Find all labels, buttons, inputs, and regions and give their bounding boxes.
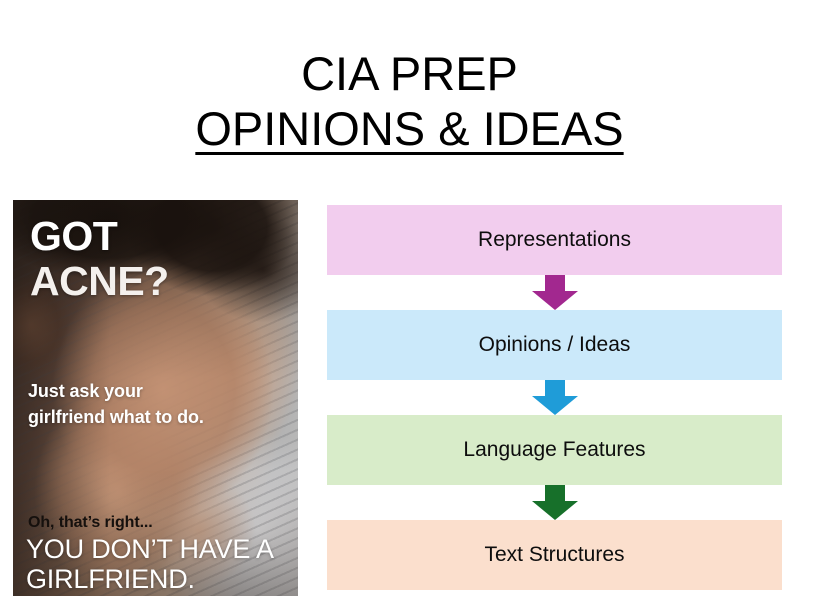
- poster-subline-line-1: Just ask your: [28, 378, 204, 404]
- flow-box-label: Representations: [478, 228, 631, 252]
- poster-subline-line-2: girlfriend what to do.: [28, 404, 204, 430]
- down-arrow-icon: [532, 275, 578, 310]
- poster-punchline-line-2: GIRLFRIEND.: [26, 564, 274, 594]
- title-line-2-container: OPINIONS & IDEAS: [0, 101, 819, 156]
- flow-box-representations[interactable]: Representations: [327, 205, 782, 275]
- acne-advertisement-image: GOT ACNE? Just ask your girlfriend what …: [13, 200, 298, 596]
- poster-subline: Just ask your girlfriend what to do.: [28, 378, 204, 430]
- flow-box-label: Text Structures: [484, 543, 624, 567]
- poster-headline: GOT ACNE?: [30, 214, 169, 304]
- down-arrow-icon: [532, 380, 578, 415]
- flow-arrow-2-container: [327, 380, 782, 415]
- down-arrow-icon: [532, 485, 578, 520]
- title-line-1: CIA PREP: [0, 46, 819, 101]
- flow-box-language-features[interactable]: Language Features: [327, 415, 782, 485]
- poster-headline-line-2: ACNE?: [30, 259, 169, 304]
- poster-headline-line-1: GOT: [30, 213, 117, 259]
- flow-box-opinions-ideas[interactable]: Opinions / Ideas: [327, 310, 782, 380]
- process-flow-diagram: Representations Opinions / Ideas Languag…: [327, 205, 782, 590]
- flow-arrow-1-container: [327, 275, 782, 310]
- flow-box-label: Language Features: [463, 438, 645, 462]
- poster-punchline: YOU DON’T HAVE A GIRLFRIEND.: [26, 534, 274, 594]
- title-line-2: OPINIONS & IDEAS: [195, 101, 623, 156]
- flow-arrow-3-container: [327, 485, 782, 520]
- page-title: CIA PREP OPINIONS & IDEAS: [0, 46, 819, 157]
- flow-box-text-structures[interactable]: Text Structures: [327, 520, 782, 590]
- poster-kicker: Oh, that’s right...: [28, 514, 153, 532]
- flow-box-label: Opinions / Ideas: [479, 333, 631, 357]
- poster-punchline-line-1: YOU DON’T HAVE A: [26, 534, 274, 564]
